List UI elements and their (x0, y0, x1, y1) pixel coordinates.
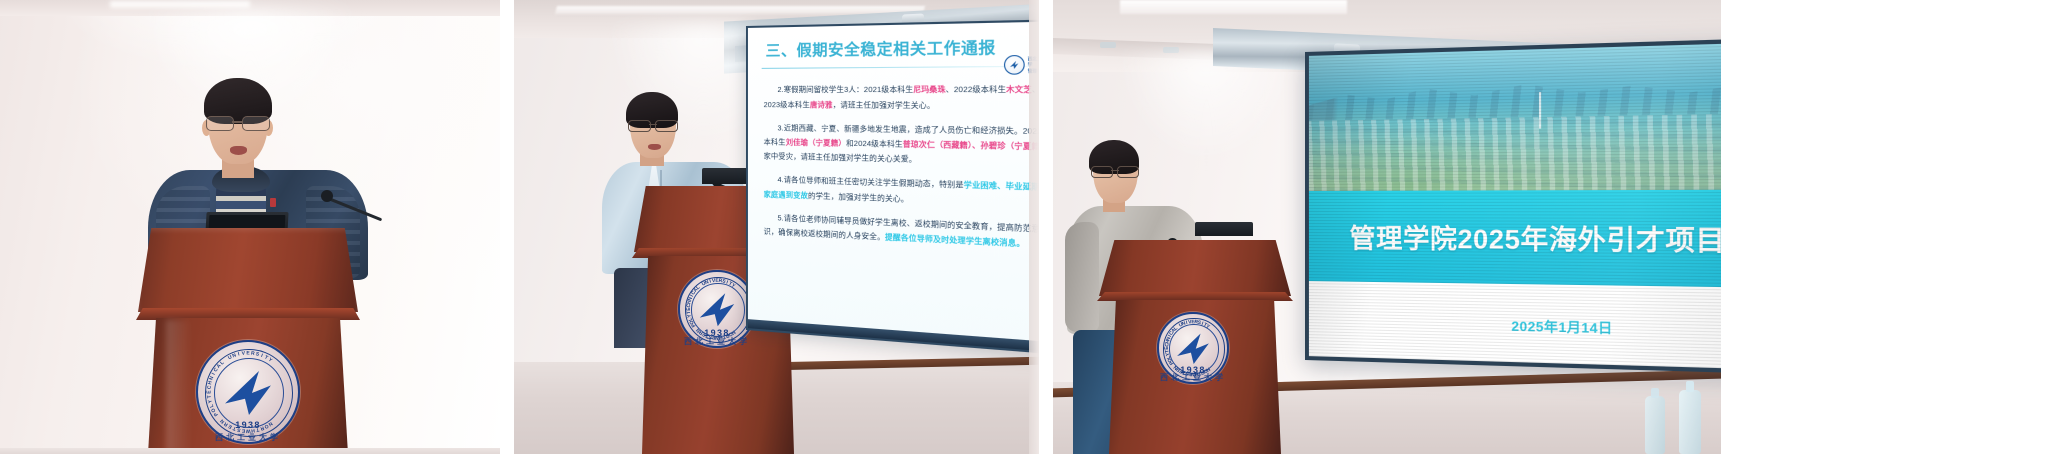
slide-title-rule (762, 66, 1039, 70)
seal-english-text: NORTHWESTERN POLYTECHNICAL UNIVERSITY (678, 270, 756, 348)
podium-1: 1938 西北工业大学 NORTHWESTERN POLYTECHNICAL U… (138, 228, 358, 454)
university-seal-icon: 1938 西北工业大学 NORTHWESTERN POLYTECHNICAL U… (1157, 312, 1229, 384)
podium-top (1099, 240, 1291, 296)
podium-lip (1097, 292, 1293, 301)
ceiling-light-slot (1120, 0, 1347, 14)
water-bottle-1 (1645, 396, 1665, 454)
glasses-icon (628, 120, 680, 131)
spotlight-1 (1100, 42, 1116, 48)
led-slide-title: 管理学院2025年海外引才项目宣讲 (1349, 218, 1721, 259)
water-bottle-2 (1679, 390, 1701, 454)
podium-3: 1938 西北工业大学 NORTHWESTERN POLYTECHNICAL U… (1099, 240, 1291, 454)
highlight-name: 普琼次仁（西藏籍）、孙碧珍（宁夏籍） (903, 139, 1039, 151)
university-logo-icon (1004, 55, 1024, 75)
glasses-icon (1091, 166, 1141, 177)
wall-right-edge (1029, 0, 1039, 454)
seal-english-text: NORTHWESTERN POLYTECHNICAL UNIVERSITY (196, 340, 300, 444)
slide-bullet-2: 2.寒假期间留校学生3人：2021级本科生尼玛桑珠、2022级本科生木文芝、20… (764, 83, 1039, 114)
university-seal-icon: 1938 西北工业大学 NORTHWESTERN POLYTECHNICAL U… (678, 270, 756, 348)
panel-divider-2 (1039, 0, 1053, 454)
slide-body: 2.寒假期间留校学生3人：2021级本科生尼玛桑珠、2022级本科生木文芝、20… (762, 83, 1039, 254)
led-slide-date: 2025年1月14日 (1511, 315, 1612, 337)
slide-campus-photo (1309, 42, 1721, 191)
slide-bullet-5: 5.请各位老师协同辅导员做好学生离校、返校期间的安全教育，提高防范意识，确保离校… (764, 211, 1039, 254)
campus-tower (1539, 91, 1541, 128)
led-display-screen: 管理学院2025年海外引才项目宣讲 2025年1月14日 (1305, 38, 1721, 374)
slide-bullet-3: 3.近期西藏、宁夏、新疆多地发生地震，造成了人员伤亡和经济损失。2022级本科生… (764, 121, 1039, 171)
projection-screen: 三、假期安全稳定相关工作通报 西北工业大学管理学院 2.寒假期间留校学生3人：2… (746, 19, 1039, 356)
laptop (1195, 222, 1253, 236)
photo-panel-3: 管理学院2025年海外引才项目宣讲 2025年1月14日 (1053, 0, 1721, 454)
slide-bullet-4: 4.请各位导师和班主任密切关注学生假期动态，特别是学业困难、毕业延期、家庭遇到变… (764, 173, 1039, 212)
photo-panel-2: 1938 西北工业大学 NORTHWESTERN POLYTECHNICAL U… (514, 0, 1039, 454)
sweater-sleeve (1065, 222, 1099, 332)
slide-title-band: 管理学院2025年海外引才项目宣讲 (1309, 190, 1721, 288)
glasses-icon (206, 116, 272, 130)
ceiling-light (110, 1, 250, 8)
podium-top (138, 228, 358, 312)
highlight-name: 刘佳瑜（宁夏籍） (786, 138, 846, 148)
mouth (230, 146, 247, 155)
mouth (648, 144, 661, 150)
three-panel-photo-composite: 1938 西北工业大学 NORTHWESTERN POLYTECHNICAL U… (0, 0, 2048, 454)
university-seal-icon: 1938 西北工业大学 NORTHWESTERN POLYTECHNICAL U… (196, 340, 300, 444)
panel-divider-1 (500, 0, 514, 454)
photo-panel-1: 1938 西北工业大学 NORTHWESTERN POLYTECHNICAL U… (0, 0, 500, 454)
highlight-name: 木文芝 (1006, 85, 1032, 95)
lapel-badge (270, 198, 276, 207)
seal-english-text: NORTHWESTERN POLYTECHNICAL UNIVERSITY (1157, 312, 1229, 384)
slide-title: 三、假期安全稳定相关工作通报 (762, 35, 1039, 61)
highlight-name: 尼玛桑珠 (913, 85, 945, 95)
floor-edge (0, 448, 500, 454)
highlight-emphasis: 提醒各位导师及时处理学生离校消息。 (885, 232, 1025, 248)
highlight-name: 唐诗雅 (810, 100, 833, 109)
podium-highlight (166, 320, 192, 452)
slide-footer-area: 2025年1月14日 (1309, 281, 1721, 369)
